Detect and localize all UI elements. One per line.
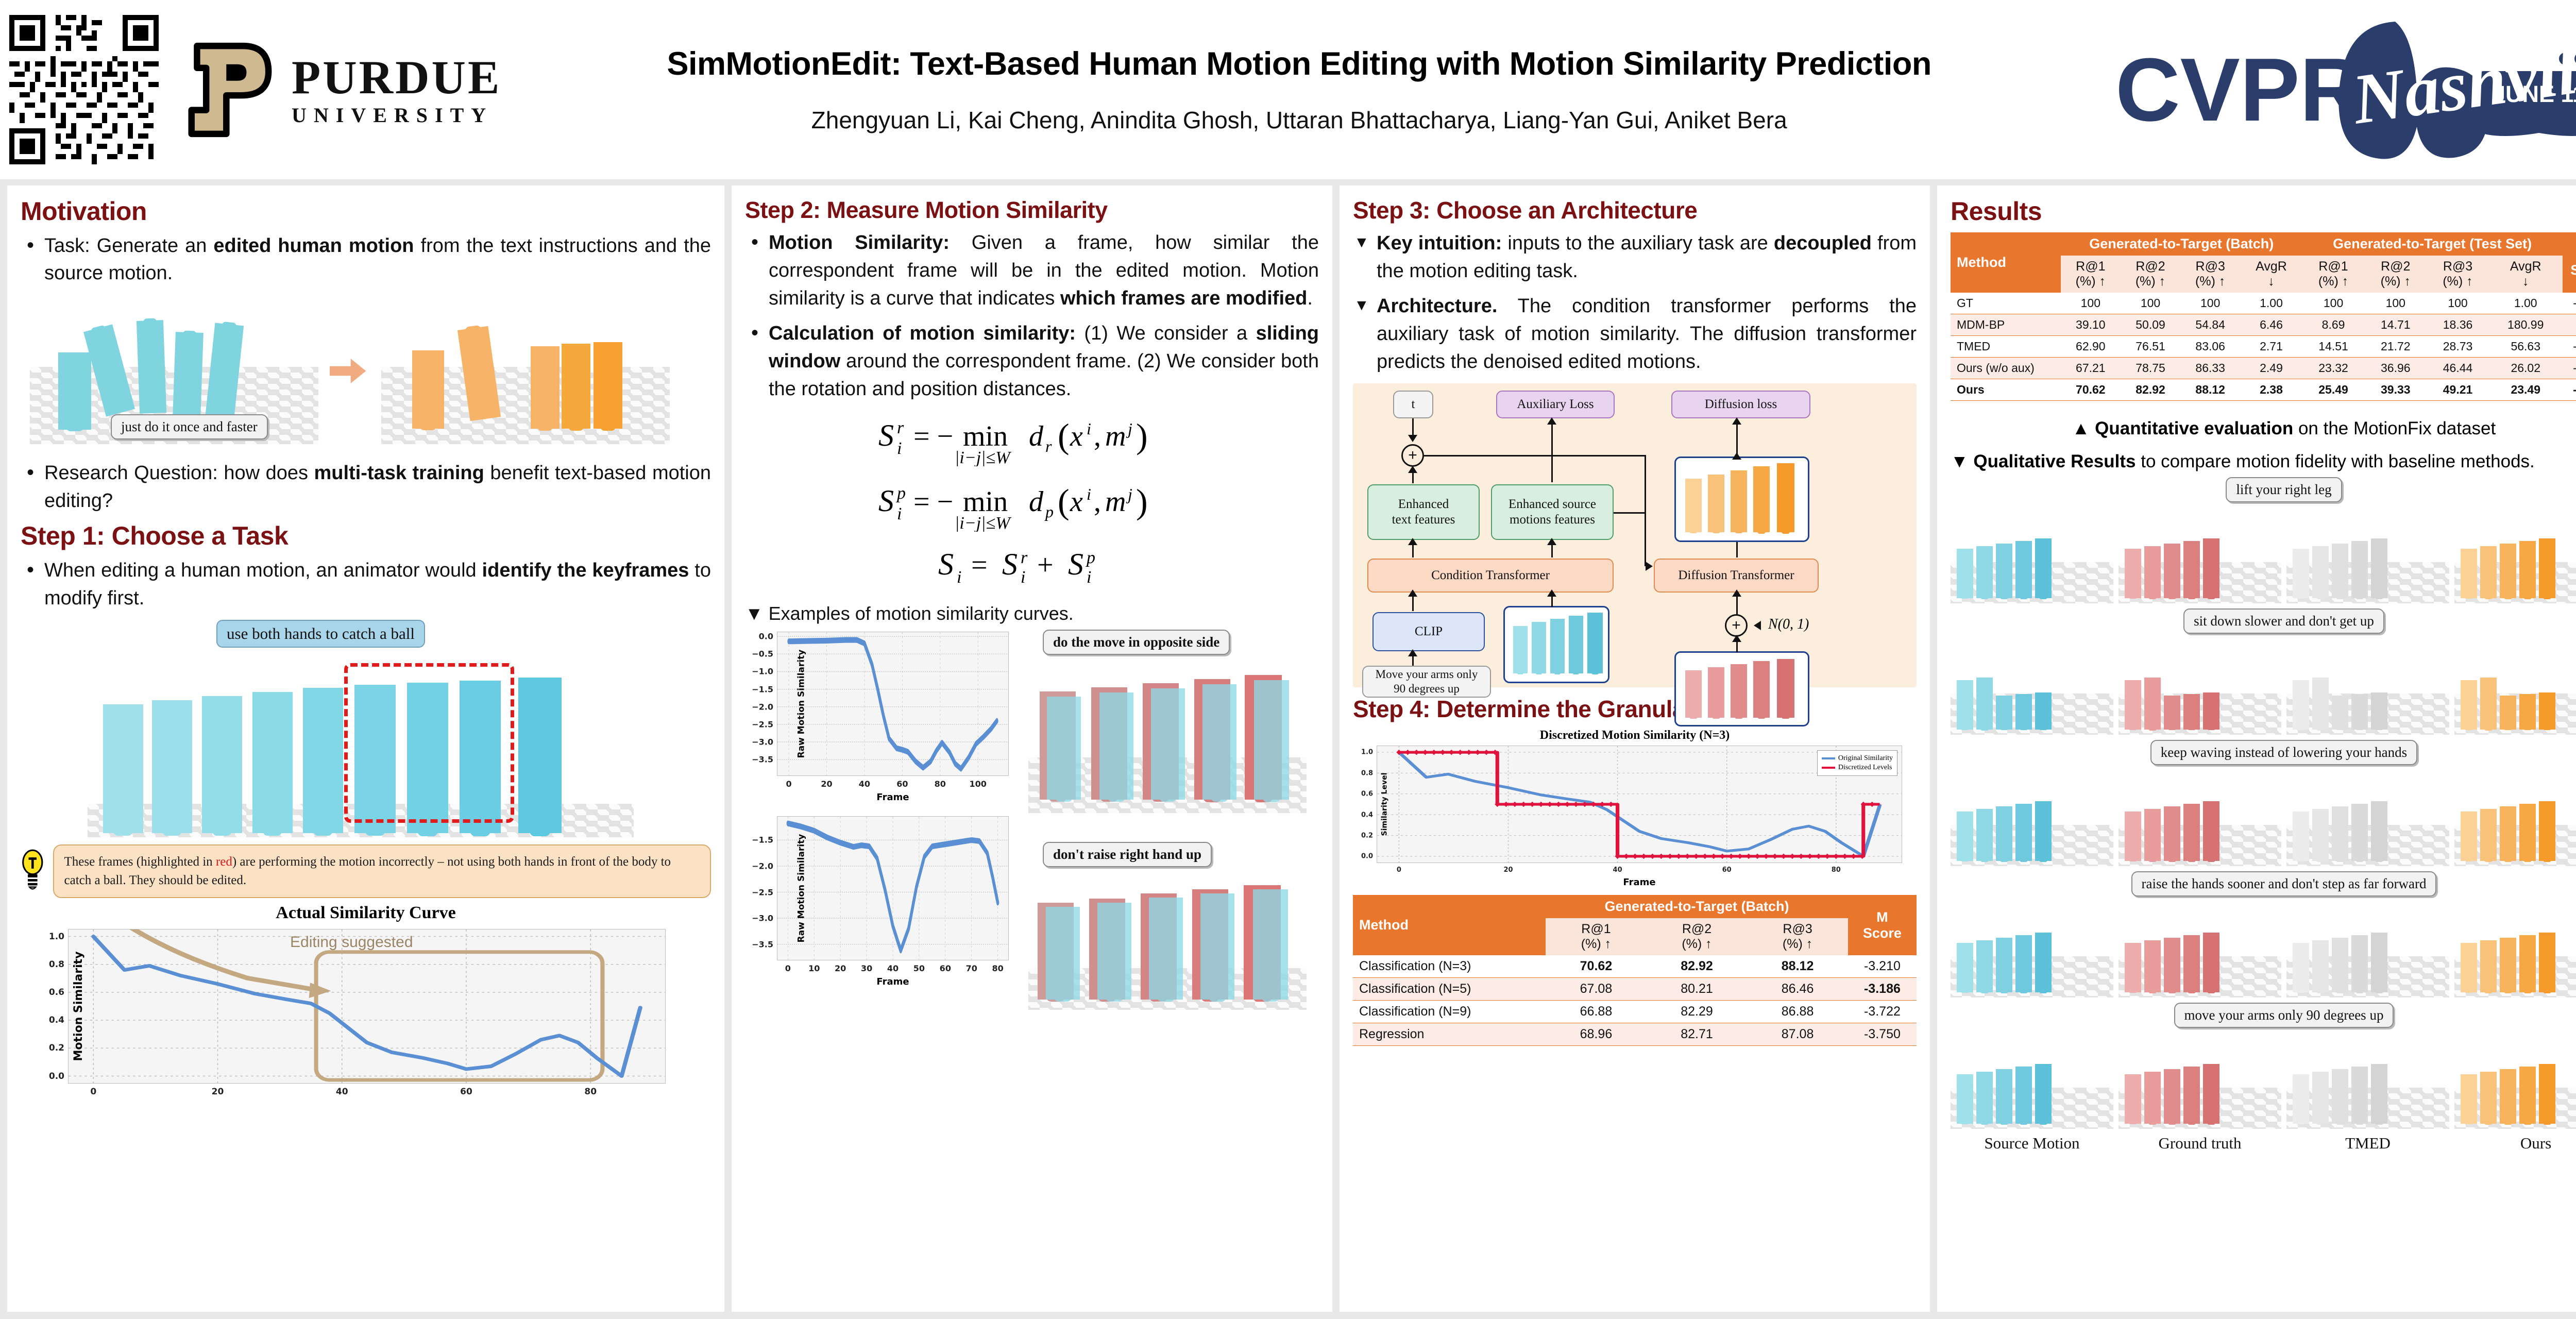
table-row: Ours (w/o aux) 67.2178.7586.332.4923.323… [1951, 357, 2576, 379]
cell-value: 88.12 [1747, 955, 1848, 978]
cell-value: 25.49 [2302, 379, 2365, 400]
cell-method: MDM-BP [1951, 314, 2061, 335]
col-subheader: R@2(%) ↑ [2364, 256, 2427, 293]
svg-text:x: x [1070, 420, 1083, 452]
svg-text:+: + [1037, 550, 1054, 581]
motion-frame [1976, 546, 1993, 598]
purdue-p-icon [185, 42, 278, 138]
motion-frame [2125, 549, 2141, 598]
svg-text:= −: = − [913, 486, 953, 518]
cell-value: 100 [2427, 293, 2489, 314]
motion-frame [2351, 541, 2368, 598]
svg-text:S: S [878, 484, 894, 518]
col-subheader: R@1(%) ↑ [2061, 256, 2121, 293]
qualitative-row: keep waving instead of lowering your han… [1951, 740, 2576, 866]
discretized-marker [1790, 854, 1795, 859]
noise-label: N(0, 1) [1768, 616, 1809, 633]
cell-value: 100 [2121, 293, 2180, 314]
motion-frame [2035, 538, 2052, 598]
cell-value: 66.88 [1546, 1001, 1647, 1023]
keyframe-highlight-box [344, 663, 514, 823]
chart-legend: Original Similarity Discretized Levels [1817, 750, 1897, 776]
heading-step2: Step 2: Measure Motion Similarity [745, 198, 1319, 222]
motion-frame [2480, 546, 2497, 598]
column-step2: Step 2: Measure Motion Similarity Motion… [732, 185, 1332, 1312]
motion-frame [1996, 544, 2012, 598]
actual-similarity-chart: Actual Similarity Curve 0204060800.00.20… [21, 903, 711, 1084]
svg-text:r: r [897, 419, 904, 437]
arrow-plus-to-difftf-h [1424, 455, 1646, 456]
arrow-img-to-diffloss [1736, 422, 1738, 456]
svg-text:i: i [1087, 485, 1091, 503]
cell-value: 36.96 [2364, 357, 2427, 379]
cvpr-logo-icon: CVPR Nashville JUNE 11-15, 2025 [2097, 12, 2576, 167]
arrowhead [1732, 589, 1741, 597]
col-header-method: Method [1353, 895, 1546, 955]
cell-value: 28.73 [2427, 335, 2489, 357]
motion-frame [2125, 1074, 2141, 1124]
cell-mscore: -3.422 [2563, 357, 2576, 379]
cell-value: 46.44 [2427, 357, 2489, 379]
svg-text:i: i [1087, 419, 1091, 438]
cell-value: 56.63 [2489, 335, 2563, 357]
motion-frame [2144, 940, 2161, 992]
motion-frame [2183, 541, 2200, 598]
motion-frame [2500, 806, 2516, 861]
architecture-diagram: t Auxiliary Loss Diffusion loss + Enhanc… [1353, 383, 1917, 687]
discretized-marker [1405, 750, 1410, 755]
cell-value: 26.02 [2489, 357, 2563, 379]
overlay-figure [1099, 692, 1133, 800]
motion-frame [2500, 938, 2516, 992]
checkerboard-floor [1951, 956, 2113, 997]
cell-value: 180.99 [2489, 314, 2563, 335]
cell-value: 82.92 [1647, 955, 1748, 978]
checkerboard-floor [2119, 562, 2281, 603]
cell-value: 39.33 [2364, 379, 2427, 400]
discretized-marker [1702, 854, 1707, 859]
motion-frame [2203, 801, 2219, 861]
discretized-marker [1530, 802, 1535, 807]
qualitative-cell [1951, 768, 2113, 866]
discretized-marker [1851, 854, 1856, 859]
granularity-table: Method Generated-to-Target (Batch) MScor… [1353, 895, 1917, 1046]
bullet-key-intuition: Key intuition: inputs to the auxiliary t… [1353, 230, 1917, 285]
motion-frame [2144, 546, 2161, 598]
discretized-marker [1781, 854, 1786, 859]
edited-figure [412, 350, 444, 429]
cell-value: 82.92 [2121, 379, 2180, 400]
cell-value: 2.38 [2240, 379, 2302, 400]
motion-frame [2461, 811, 2477, 861]
motion-frame [2500, 1069, 2516, 1124]
qualitative-row: move your arms only 90 degrees up [1951, 1003, 2576, 1129]
add-operator-right: + [1725, 614, 1748, 637]
checkerboard-floor [2286, 825, 2449, 866]
bullet-calculation: Calculation of motion similarity: (1) We… [745, 320, 1319, 403]
cell-value: 82.29 [1647, 1001, 1748, 1023]
checkerboard-floor [2119, 825, 2281, 866]
svg-text:): ) [1136, 419, 1148, 455]
discretized-marker [1746, 854, 1751, 859]
svg-text:d: d [1029, 420, 1044, 452]
motion-frame [2332, 544, 2348, 598]
bullet-task: Task: Generate an edited human motion fr… [21, 232, 711, 288]
cell-value: 62.90 [2061, 335, 2121, 357]
qualitative-row: lift your right leg [1951, 477, 2576, 603]
cell-value: 1.00 [2240, 293, 2302, 314]
motion-frame [2351, 804, 2368, 861]
y-axis-label: Raw Motion Similarity [796, 650, 806, 758]
teaser-edited-scene [381, 295, 670, 444]
discretized-marker [1842, 854, 1848, 859]
svg-text:i: i [897, 504, 902, 523]
cell-value: 83.06 [2180, 335, 2240, 357]
cell-mscore: -3.186 [1848, 978, 1917, 1001]
col-subheader: R@3(%) ↑ [1747, 918, 1848, 955]
discretized-marker [1414, 750, 1419, 755]
motion-frame [2312, 940, 2329, 992]
arrowhead [1547, 538, 1556, 545]
cell-value: 100 [2061, 293, 2121, 314]
discretized-marker [1737, 854, 1742, 859]
discretized-marker [1484, 750, 1489, 755]
cell-value: 82.71 [1647, 1023, 1748, 1046]
examples-grid: 0204060801000.0−0.5−1.0−1.5−2.0−2.5−3.0−… [745, 630, 1319, 1012]
motion-frame [2461, 943, 2477, 992]
source-figure [137, 320, 166, 414]
motion-frame [1957, 1074, 1973, 1124]
svg-text:(: ( [1058, 484, 1070, 521]
discretized-marker [1755, 854, 1760, 859]
motion-frame [2183, 694, 2200, 730]
discretized-chart: Discretized Motion Similarity (N=3) 0204… [1353, 729, 1917, 863]
motion-frame [2125, 943, 2141, 992]
qual-col-label: Ours [2454, 1134, 2576, 1153]
motion-frame [1957, 549, 1973, 598]
cell-mscore: -3.722 [1848, 1001, 1917, 1023]
discretized-marker [1440, 750, 1445, 755]
caption-qualitative: ▼ Qualitative Results to compare motion … [1951, 451, 2576, 472]
motion-frame [1957, 811, 1973, 861]
cell-method: Classification (N=5) [1353, 978, 1546, 1001]
motion-frame [1957, 943, 1973, 992]
motion-frame [1976, 940, 1993, 992]
plot-area: 01020304050607080−1.5−2.0−2.5−3.0−3.5 [777, 816, 1009, 960]
motion-frame [303, 688, 343, 833]
motion-frame [1976, 678, 1993, 730]
cell-mscore: - [2563, 314, 2576, 335]
cell-value: 100 [2180, 293, 2240, 314]
qr-code-icon[interactable] [9, 15, 159, 164]
svg-text:j: j [1126, 419, 1132, 438]
step3-bullets: Key intuition: inputs to the auxiliary t… [1353, 230, 1917, 376]
keyframe-scene [88, 652, 634, 837]
cell-value: 86.46 [1747, 978, 1848, 1001]
purdue-logo: PURDUE UNIVERSITY [185, 42, 501, 138]
x-axis-label: Frame [876, 976, 909, 987]
discretized-marker [1772, 854, 1777, 859]
motion-frame [2035, 801, 2052, 861]
motion-frame [2203, 1064, 2219, 1124]
qualitative-prompt: keep waving instead of lowering your han… [2150, 740, 2417, 765]
heading-step4: Step 4: Determine the Granularity [1353, 697, 1917, 721]
checkerboard-floor [1951, 1088, 2113, 1129]
arrowhead [1646, 562, 1653, 571]
cell-method: GT [1951, 293, 2061, 314]
cell-method: Classification (N=3) [1353, 955, 1546, 978]
cell-value: 39.10 [2061, 314, 2121, 335]
motion-frame [2500, 544, 2516, 598]
curve2-wrap: 01020304050607080−1.5−2.0−2.5−3.0−3.5 Ra… [777, 816, 1009, 960]
examples-caption: ▼ Examples of motion similarity curves. [745, 603, 1319, 624]
arrowhead [1732, 452, 1741, 460]
y-axis-label: Raw Motion Similarity [796, 834, 806, 943]
example1-caption: do the move in opposite side [1043, 630, 1230, 655]
motion-frame [2293, 811, 2309, 861]
cell-value: 67.08 [1546, 978, 1647, 1001]
discretized-marker [1431, 750, 1436, 755]
motion-frame [2539, 692, 2555, 730]
table-row: Ours 70.6282.9288.122.3825.4939.3349.212… [1951, 379, 2576, 400]
motion-frame [2015, 694, 2032, 730]
discretized-marker [1565, 802, 1570, 807]
discretized-marker [1825, 854, 1830, 859]
svg-text:=: = [971, 550, 988, 581]
svg-text:d: d [1029, 486, 1044, 518]
motion-frame [103, 704, 143, 833]
col-subheader: R@3(%) ↑ [2427, 256, 2489, 293]
discretized-marker [1650, 854, 1655, 859]
step1-bullets: When editing a human motion, an animator… [21, 557, 711, 613]
motion-frame [2203, 538, 2219, 598]
discretized-marker [1538, 802, 1544, 807]
cell-value: 1.00 [2489, 293, 2563, 314]
svg-text:S: S [1002, 550, 1018, 581]
arrow-plus-to-difftf-v [1645, 455, 1646, 566]
discretized-marker [1608, 802, 1614, 807]
motion-frame [2144, 678, 2161, 730]
svg-text:min: min [963, 420, 1008, 452]
cell-mscore: -3.750 [1848, 1023, 1917, 1046]
motion-frame [1996, 696, 2012, 730]
svg-text:p: p [1086, 550, 1095, 567]
examples-charts-column: 0204060801000.0−0.5−1.0−1.5−2.0−2.5−3.0−… [745, 630, 1023, 1012]
svg-text:,: , [1094, 486, 1101, 518]
cell-value: 88.12 [2180, 379, 2240, 400]
arrowhead [1732, 635, 1741, 642]
table-row: Classification (N=3) 70.6282.9288.12 -3.… [1353, 955, 1917, 978]
plot-area: 0204060801000.0−0.5−1.0−1.5−2.0−2.5−3.0−… [777, 632, 1009, 776]
overlay-figure [1200, 893, 1234, 1000]
motion-frame [2480, 809, 2497, 861]
motion-frame [2539, 538, 2555, 598]
node-diffusion-loss: Diffusion loss [1671, 391, 1810, 418]
col-subheader: AvgR↓ [2489, 256, 2563, 293]
svg-text:j: j [1126, 485, 1132, 503]
motion-frame [2461, 549, 2477, 598]
col-header-mscore: MScore [1848, 895, 1917, 955]
motion-frame [2125, 811, 2141, 861]
qualitative-cell [2119, 768, 2281, 866]
checkerboard-floor [2286, 956, 2449, 997]
svg-text:JUNE 11-15, 2025: JUNE 11-15, 2025 [2493, 81, 2576, 107]
motion-frame [2164, 1069, 2180, 1124]
table-row: GT 1001001001.001001001001.00 -3.175 [1951, 293, 2576, 314]
discretized-marker [1641, 854, 1646, 859]
insight-note: These frames (highlighted in red) are pe… [53, 844, 711, 899]
arrowhead [1408, 466, 1417, 473]
motion-frame [2015, 541, 2032, 598]
node-clip: CLIP [1372, 612, 1485, 651]
motion-frame [2035, 933, 2052, 992]
cell-mscore: -3.175 [2563, 293, 2576, 314]
motion-frame [2312, 678, 2329, 730]
plot-svg [69, 929, 665, 1083]
cell-value: 67.21 [2061, 357, 2121, 379]
table-row: TMED 62.9076.5183.062.7114.5121.7228.735… [1951, 335, 2576, 357]
qualitative-cell [2286, 1031, 2449, 1129]
arrowhead [1408, 589, 1417, 597]
motion-frame [2312, 546, 2329, 598]
heading-motivation: Motivation [21, 198, 711, 225]
svg-text:x: x [1070, 486, 1083, 518]
cell-value: 49.21 [2427, 379, 2489, 400]
discretized-marker [1807, 854, 1812, 859]
equation-sp-svg: S p i = − min |i−j|≤W d p ( x i , m j ) [872, 484, 1192, 532]
motion-frame [518, 678, 562, 833]
node-text-prompt: Move your arms only 90 degrees up [1362, 666, 1491, 698]
purdue-wordmark-line2: UNIVERSITY [292, 105, 501, 126]
plot-area: 0204060800.00.20.40.60.81.0 Original Sim… [1377, 746, 1902, 863]
author-list: Zhengyuan Li, Kai Cheng, Anindita Ghosh,… [522, 106, 2076, 134]
x-axis-label: Frame [1623, 877, 1655, 888]
column-motivation: Motivation Task: Generate an edited huma… [7, 185, 724, 1312]
cell-value: 78.75 [2121, 357, 2180, 379]
arrow-motion-to-auxloss [1551, 422, 1553, 482]
example2: don't raise right hand up [1028, 842, 1319, 1012]
motion-frame [1996, 938, 2012, 992]
motion-frame [2480, 940, 2497, 992]
cell-value: 87.08 [1747, 1023, 1848, 1046]
motion-frame [2480, 678, 2497, 730]
svg-text:): ) [1136, 484, 1148, 521]
bullet-research-question: Research Question: how does multi-task t… [21, 460, 711, 515]
discretized-marker [1667, 854, 1672, 859]
y-axis-label: Motion Similarity [72, 952, 85, 1061]
col-header-method: Method [1951, 232, 2061, 293]
page-title: SimMotionEdit: Text-Based Human Motion E… [522, 45, 2076, 82]
motion-frame [1957, 680, 1973, 730]
arrowhead [1408, 538, 1417, 545]
teaser-caption: just do it once and faster [111, 414, 268, 439]
curve1-wrap: 0204060801000.0−0.5−1.0−1.5−2.0−2.5−3.0−… [777, 632, 1009, 776]
motion-frame [2312, 809, 2329, 861]
purdue-wordmark-line1: PURDUE [292, 54, 501, 101]
edited-figure [531, 346, 560, 429]
node-timestep: t [1393, 391, 1433, 418]
motion-frame [1976, 1072, 1993, 1124]
legend-item-original: Original Similarity [1822, 754, 1893, 763]
qualitative-cell [2286, 637, 2449, 735]
motion-frame [2183, 1067, 2200, 1124]
svg-text:S: S [1068, 550, 1083, 581]
discretized-marker [1632, 854, 1637, 859]
svg-text:S: S [938, 550, 954, 581]
cell-value: 86.88 [1747, 1001, 1848, 1023]
motion-frame [2332, 1069, 2348, 1124]
lightbulb-icon [21, 844, 45, 896]
qualitative-row: sit down slower and don't get up [1951, 608, 2576, 735]
checkerboard-floor [1951, 562, 2113, 603]
cell-value: 86.33 [2180, 357, 2240, 379]
caption-quantitative: ▲ Quantitative evaluation on the MotionF… [1951, 418, 2576, 439]
svg-text:,: , [1094, 420, 1101, 452]
table-row: MDM-BP 39.1050.0954.846.468.6914.7118.36… [1951, 314, 2576, 335]
arrowhead [1754, 621, 1761, 630]
discretized-marker [1458, 750, 1463, 755]
legend-item-discretized: Discretized Levels [1822, 764, 1893, 772]
svg-text:CVPR: CVPR [2115, 39, 2364, 140]
qualitative-cell [2454, 768, 2576, 866]
col-subheader: R@2(%) ↑ [2121, 256, 2180, 293]
motion-frame [2539, 933, 2555, 992]
discretized-marker [1834, 854, 1839, 859]
node-enhanced-text-features: Enhanced text features [1367, 484, 1480, 540]
motion-frame [2015, 935, 2032, 992]
qual-col-label: TMED [2286, 1134, 2449, 1153]
cell-value: 23.32 [2302, 357, 2365, 379]
motion-frame [2293, 549, 2309, 598]
svg-text:m: m [1105, 420, 1126, 452]
discretized-marker [1685, 854, 1690, 859]
svg-text:i: i [897, 439, 902, 458]
cell-value: 68.96 [1546, 1023, 1647, 1046]
cell-value: 50.09 [2121, 314, 2180, 335]
discretized-marker [1764, 854, 1769, 859]
motion-frame [1996, 1069, 2012, 1124]
arrowhead [1408, 649, 1417, 656]
discretized-marker [1676, 854, 1681, 859]
arrowhead [1547, 417, 1556, 425]
bullet-motion-similarity: Motion Similarity: Given a frame, how si… [745, 229, 1319, 313]
example2-caption: don't raise right hand up [1043, 842, 1212, 867]
discretized-marker [1720, 854, 1725, 859]
motion-frame [2293, 1074, 2309, 1124]
discretized-marker [1728, 854, 1734, 859]
motion-frame [2519, 804, 2536, 861]
arrow-t-to-plus [1412, 418, 1414, 436]
equation-sr-svg: S r i = − min |i−j|≤W d r ( x i , m j ) [872, 419, 1192, 466]
qualitative-cell [1951, 505, 2113, 603]
svg-text:r: r [1021, 550, 1028, 567]
qualitative-cell [2119, 505, 2281, 603]
qualitative-prompt: move your arms only 90 degrees up [2174, 1003, 2394, 1028]
arrow-difftf-to-img [1736, 542, 1738, 557]
svg-text:r: r [1045, 437, 1052, 455]
transform-arrow-icon [330, 357, 368, 385]
teaser-figure: just do it once and faster [21, 295, 711, 460]
motion-frame [152, 700, 192, 833]
column-results: Results Method Generated-to-Target (Batc… [1937, 185, 2576, 1312]
discretized-marker [1466, 750, 1471, 755]
x-axis-label: Frame [876, 792, 909, 803]
motion-frame [2461, 680, 2477, 730]
overlay-figure [1253, 889, 1288, 1000]
checkerboard-floor [1951, 825, 2113, 866]
qualitative-cell [2454, 1031, 2576, 1129]
example1-scene [1028, 658, 1307, 813]
